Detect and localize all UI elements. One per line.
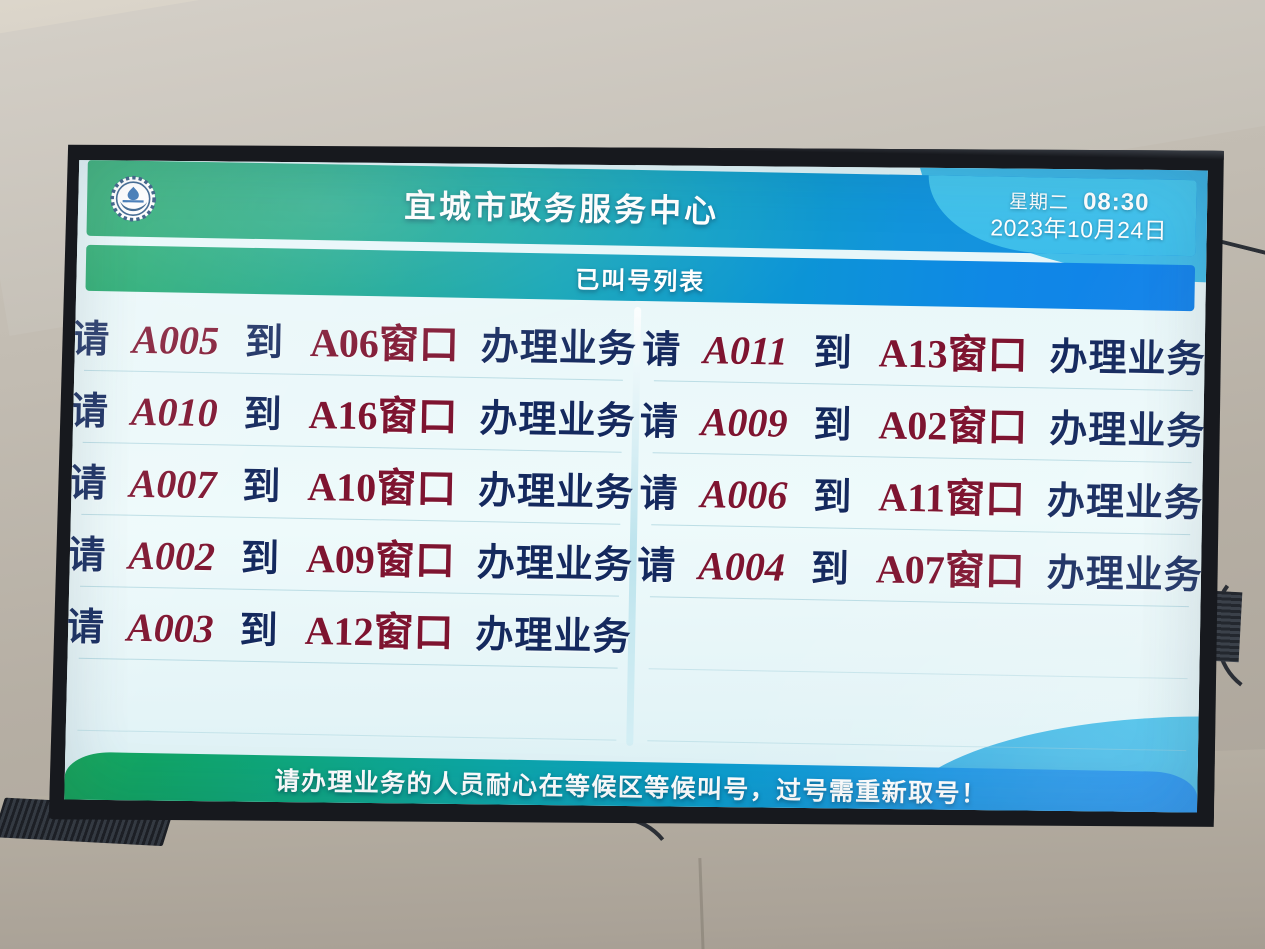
window-number: A10 xyxy=(307,462,377,510)
label-window-suffix: 窗口 xyxy=(945,465,1026,524)
label-please: 请 xyxy=(639,390,679,446)
label-window-suffix: 窗口 xyxy=(376,455,457,514)
label-to: 到 xyxy=(239,598,279,654)
ticket-number: A011 xyxy=(703,326,788,375)
label-window-suffix: 窗口 xyxy=(944,537,1025,596)
label-business: 办理业务 xyxy=(475,603,632,661)
list-item-empty xyxy=(647,669,1187,751)
label-to: 到 xyxy=(813,393,853,449)
list-item: 请A003到A12窗口办理业务 xyxy=(79,587,619,669)
label-please: 请 xyxy=(66,595,106,651)
ticket-number: A010 xyxy=(131,387,219,436)
label-window-suffix: 窗口 xyxy=(374,527,455,586)
label-to: 到 xyxy=(245,310,285,366)
window-number: A09 xyxy=(306,534,376,582)
label-business: 办理业务 xyxy=(479,387,636,445)
label-to: 到 xyxy=(242,454,282,510)
ticket-number: A007 xyxy=(129,459,217,508)
ticket-number: A006 xyxy=(700,470,788,519)
list-item: 请A007到A10窗口办理业务 xyxy=(81,443,621,525)
label-please: 请 xyxy=(67,523,107,579)
called-list-title: 已叫号列表 xyxy=(575,259,706,296)
label-business: 办理业务 xyxy=(1049,325,1206,383)
label-window-suffix: 窗口 xyxy=(378,311,459,370)
label-please: 请 xyxy=(642,318,682,374)
display-screen: 宜城市政务服务中心 星期二 08:30 2023年10月24日 已叫号列表 xyxy=(64,150,1209,821)
label-to: 到 xyxy=(813,321,853,377)
label-please: 请 xyxy=(71,307,111,363)
window-number: A06 xyxy=(310,318,380,366)
window-number: A07 xyxy=(875,545,945,593)
label-business: 办理业务 xyxy=(1049,397,1206,455)
called-list-left-column: 请A005到A06窗口办理业务 请A010到A16窗口办理业务 xyxy=(77,295,634,760)
label-business: 办理业务 xyxy=(476,531,633,589)
government-service-emblem-icon xyxy=(109,174,158,223)
list-item-empty xyxy=(77,659,617,741)
list-item: 请A005到A06窗口办理业务 xyxy=(84,299,624,381)
label-please: 请 xyxy=(637,534,677,590)
notice-text: 请办理业务的人员耐心在等候区等候叫号，过号需重新取号！ xyxy=(274,761,987,810)
list-item: 请A011到A13窗口办理业务 xyxy=(654,309,1194,391)
ticket-number: A005 xyxy=(132,315,220,364)
date-label: 2023年10月24日 xyxy=(990,214,1167,245)
list-item: 请A006到A11窗口办理业务 xyxy=(651,453,1191,535)
list-item-empty xyxy=(649,597,1189,679)
called-list-right-column: 请A011到A13窗口办理业务 请A009到A02窗口办理业务 xyxy=(633,305,1194,770)
label-business: 办理业务 xyxy=(480,315,637,373)
ticket-number: A002 xyxy=(128,531,216,580)
app-header: 宜城市政务服务中心 星期二 08:30 2023年10月24日 xyxy=(86,160,1196,256)
weekday-time-row: 星期二 08:30 xyxy=(1009,188,1150,217)
list-item: 请A004到A07窗口办理业务 xyxy=(650,525,1190,607)
label-window-suffix: 窗口 xyxy=(947,321,1028,380)
window-number: A13 xyxy=(878,329,948,377)
window-number: A02 xyxy=(878,401,948,449)
ticket-number: A003 xyxy=(127,603,215,652)
label-window-suffix: 窗口 xyxy=(377,383,458,442)
wall-mounted-display: 宜城市政务服务中心 星期二 08:30 2023年10月24日 已叫号列表 xyxy=(49,129,1226,840)
weekday-label: 星期二 xyxy=(1009,192,1069,214)
ticket-number: A004 xyxy=(698,542,786,591)
label-to: 到 xyxy=(241,526,281,582)
list-item: 请A010到A16窗口办理业务 xyxy=(83,371,623,453)
label-business: 办理业务 xyxy=(478,459,635,517)
label-business: 办理业务 xyxy=(1047,469,1204,527)
called-number-list: 请A005到A06窗口办理业务 请A010到A16窗口办理业务 xyxy=(77,295,1194,770)
window-number: A12 xyxy=(304,606,374,654)
ticket-number: A009 xyxy=(700,398,788,447)
datetime-panel: 星期二 08:30 2023年10月24日 xyxy=(927,175,1196,256)
label-please: 请 xyxy=(68,451,108,507)
clock-label: 08:30 xyxy=(1083,189,1150,217)
label-to: 到 xyxy=(243,382,283,438)
label-window-suffix: 窗口 xyxy=(947,393,1028,452)
list-item: 请A009到A02窗口办理业务 xyxy=(653,381,1193,463)
label-window-suffix: 窗口 xyxy=(373,599,454,658)
label-to: 到 xyxy=(813,465,853,521)
queue-display-app: 宜城市政务服务中心 星期二 08:30 2023年10月24日 已叫号列表 xyxy=(64,150,1209,821)
label-please: 请 xyxy=(639,462,679,518)
room-scene: 宜城市政务服务中心 星期二 08:30 2023年10月24日 已叫号列表 xyxy=(0,0,1265,949)
list-item: 请A002到A09窗口办理业务 xyxy=(80,515,620,597)
label-to: 到 xyxy=(810,537,850,593)
window-number: A16 xyxy=(308,390,378,438)
window-number: A11 xyxy=(878,473,946,521)
label-please: 请 xyxy=(70,379,110,435)
label-business: 办理业务 xyxy=(1046,541,1203,599)
